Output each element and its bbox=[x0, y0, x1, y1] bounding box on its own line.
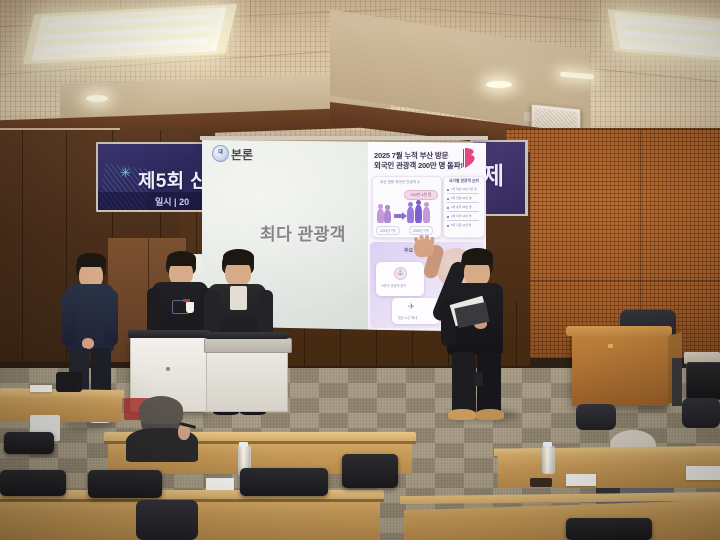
stat-label-2025: 2025년 7월 bbox=[409, 226, 433, 235]
rank-item: 2위 일본 31만 명 bbox=[451, 196, 472, 200]
cup bbox=[186, 302, 194, 313]
rank-card-title: 국가별 관광객 순위 bbox=[449, 179, 479, 184]
cruise-glyph: ⚓ bbox=[397, 270, 403, 276]
ceiling-grid-line bbox=[600, 0, 601, 46]
water-bottle[interactable] bbox=[542, 446, 555, 474]
lectern-right[interactable] bbox=[206, 344, 288, 412]
slide-logo-mark: 대 bbox=[218, 151, 223, 156]
wall-seam bbox=[506, 128, 720, 130]
rank-item: 3위 중국 28만 명 bbox=[451, 205, 472, 209]
seat-front-right[interactable] bbox=[566, 518, 652, 540]
seat-bottom-center[interactable] bbox=[88, 470, 162, 498]
chair-back-right[interactable] bbox=[682, 398, 720, 428]
seat-bottom-left[interactable] bbox=[0, 470, 66, 496]
seat-bottom-center2[interactable] bbox=[240, 468, 328, 496]
paper-sheet bbox=[30, 385, 52, 392]
banner-title: 제5회 신 bbox=[138, 166, 208, 193]
paper-sheet bbox=[566, 474, 596, 486]
shirt-placket bbox=[230, 286, 247, 310]
backpack bbox=[56, 372, 82, 392]
screen-top-bar bbox=[200, 136, 488, 140]
banner-subtitle: 일시 | 20 bbox=[155, 195, 189, 208]
lectern-right-top bbox=[206, 332, 288, 339]
event-banner: ✳ 제5회 신 일시 | 20 bbox=[98, 144, 216, 210]
chair-back-bottom[interactable] bbox=[136, 500, 198, 540]
stat-label-2024: 2024년 7월 bbox=[376, 226, 400, 235]
ceiling-grid-line bbox=[250, 0, 251, 22]
downlight bbox=[86, 95, 108, 102]
bottle-cap bbox=[543, 442, 552, 447]
paper-sheet bbox=[686, 466, 720, 480]
slide-logo-icon: 대 bbox=[212, 145, 229, 162]
slide-section-label: 본론 bbox=[231, 146, 253, 163]
stat-pill: 200만 4천 명 bbox=[404, 190, 438, 200]
busan-logo-icon bbox=[462, 147, 480, 169]
bottle-cap bbox=[239, 442, 248, 447]
lectern-shelf bbox=[204, 338, 292, 353]
lecture-hall-photo: ✳ 제5회 신 일시 | 20 제 대 본론 최다 관광객 2025 7월 누적… bbox=[0, 0, 720, 540]
lower-card-2-label: 항공 노선 확대 bbox=[398, 315, 417, 320]
wooden-desk-top bbox=[566, 326, 672, 336]
slide-headline: 최다 관광객 bbox=[260, 220, 346, 245]
crt-monitor bbox=[686, 362, 720, 400]
lower-card-1-label: 크루즈 관광객 증가 bbox=[381, 283, 406, 288]
monitor-stand bbox=[672, 358, 682, 406]
marker bbox=[183, 299, 190, 302]
seat-left-tier[interactable] bbox=[4, 432, 54, 454]
airplane-icon: ✈ bbox=[408, 302, 415, 311]
paper-sheet bbox=[206, 478, 234, 490]
chair-back-right[interactable] bbox=[576, 404, 616, 430]
seat-bottom-right[interactable] bbox=[342, 454, 398, 488]
desk-latch bbox=[608, 344, 613, 348]
rank-item: 1위 대만 45만 2천 명 bbox=[451, 187, 477, 191]
rank-item: 5위 홍콩 11만 명 bbox=[451, 223, 471, 227]
perforated-wall-panel bbox=[506, 128, 720, 358]
cargo-pocket bbox=[474, 372, 483, 386]
sparkle-icon: ✳ bbox=[120, 166, 131, 179]
panel-title-line2: 외국인 관광객 200만 명 돌파! bbox=[374, 160, 463, 171]
wallet bbox=[530, 478, 552, 487]
hair-gray bbox=[139, 396, 183, 424]
downlight bbox=[486, 81, 512, 88]
stat-card-title: 부산 방문 외국인 관광객 수 bbox=[380, 180, 420, 185]
wall-seam bbox=[506, 280, 720, 281]
lectern-left-top bbox=[128, 330, 210, 338]
wooden-desk-right bbox=[572, 332, 668, 406]
rank-item: 4위 미국 14만 명 bbox=[451, 214, 472, 218]
